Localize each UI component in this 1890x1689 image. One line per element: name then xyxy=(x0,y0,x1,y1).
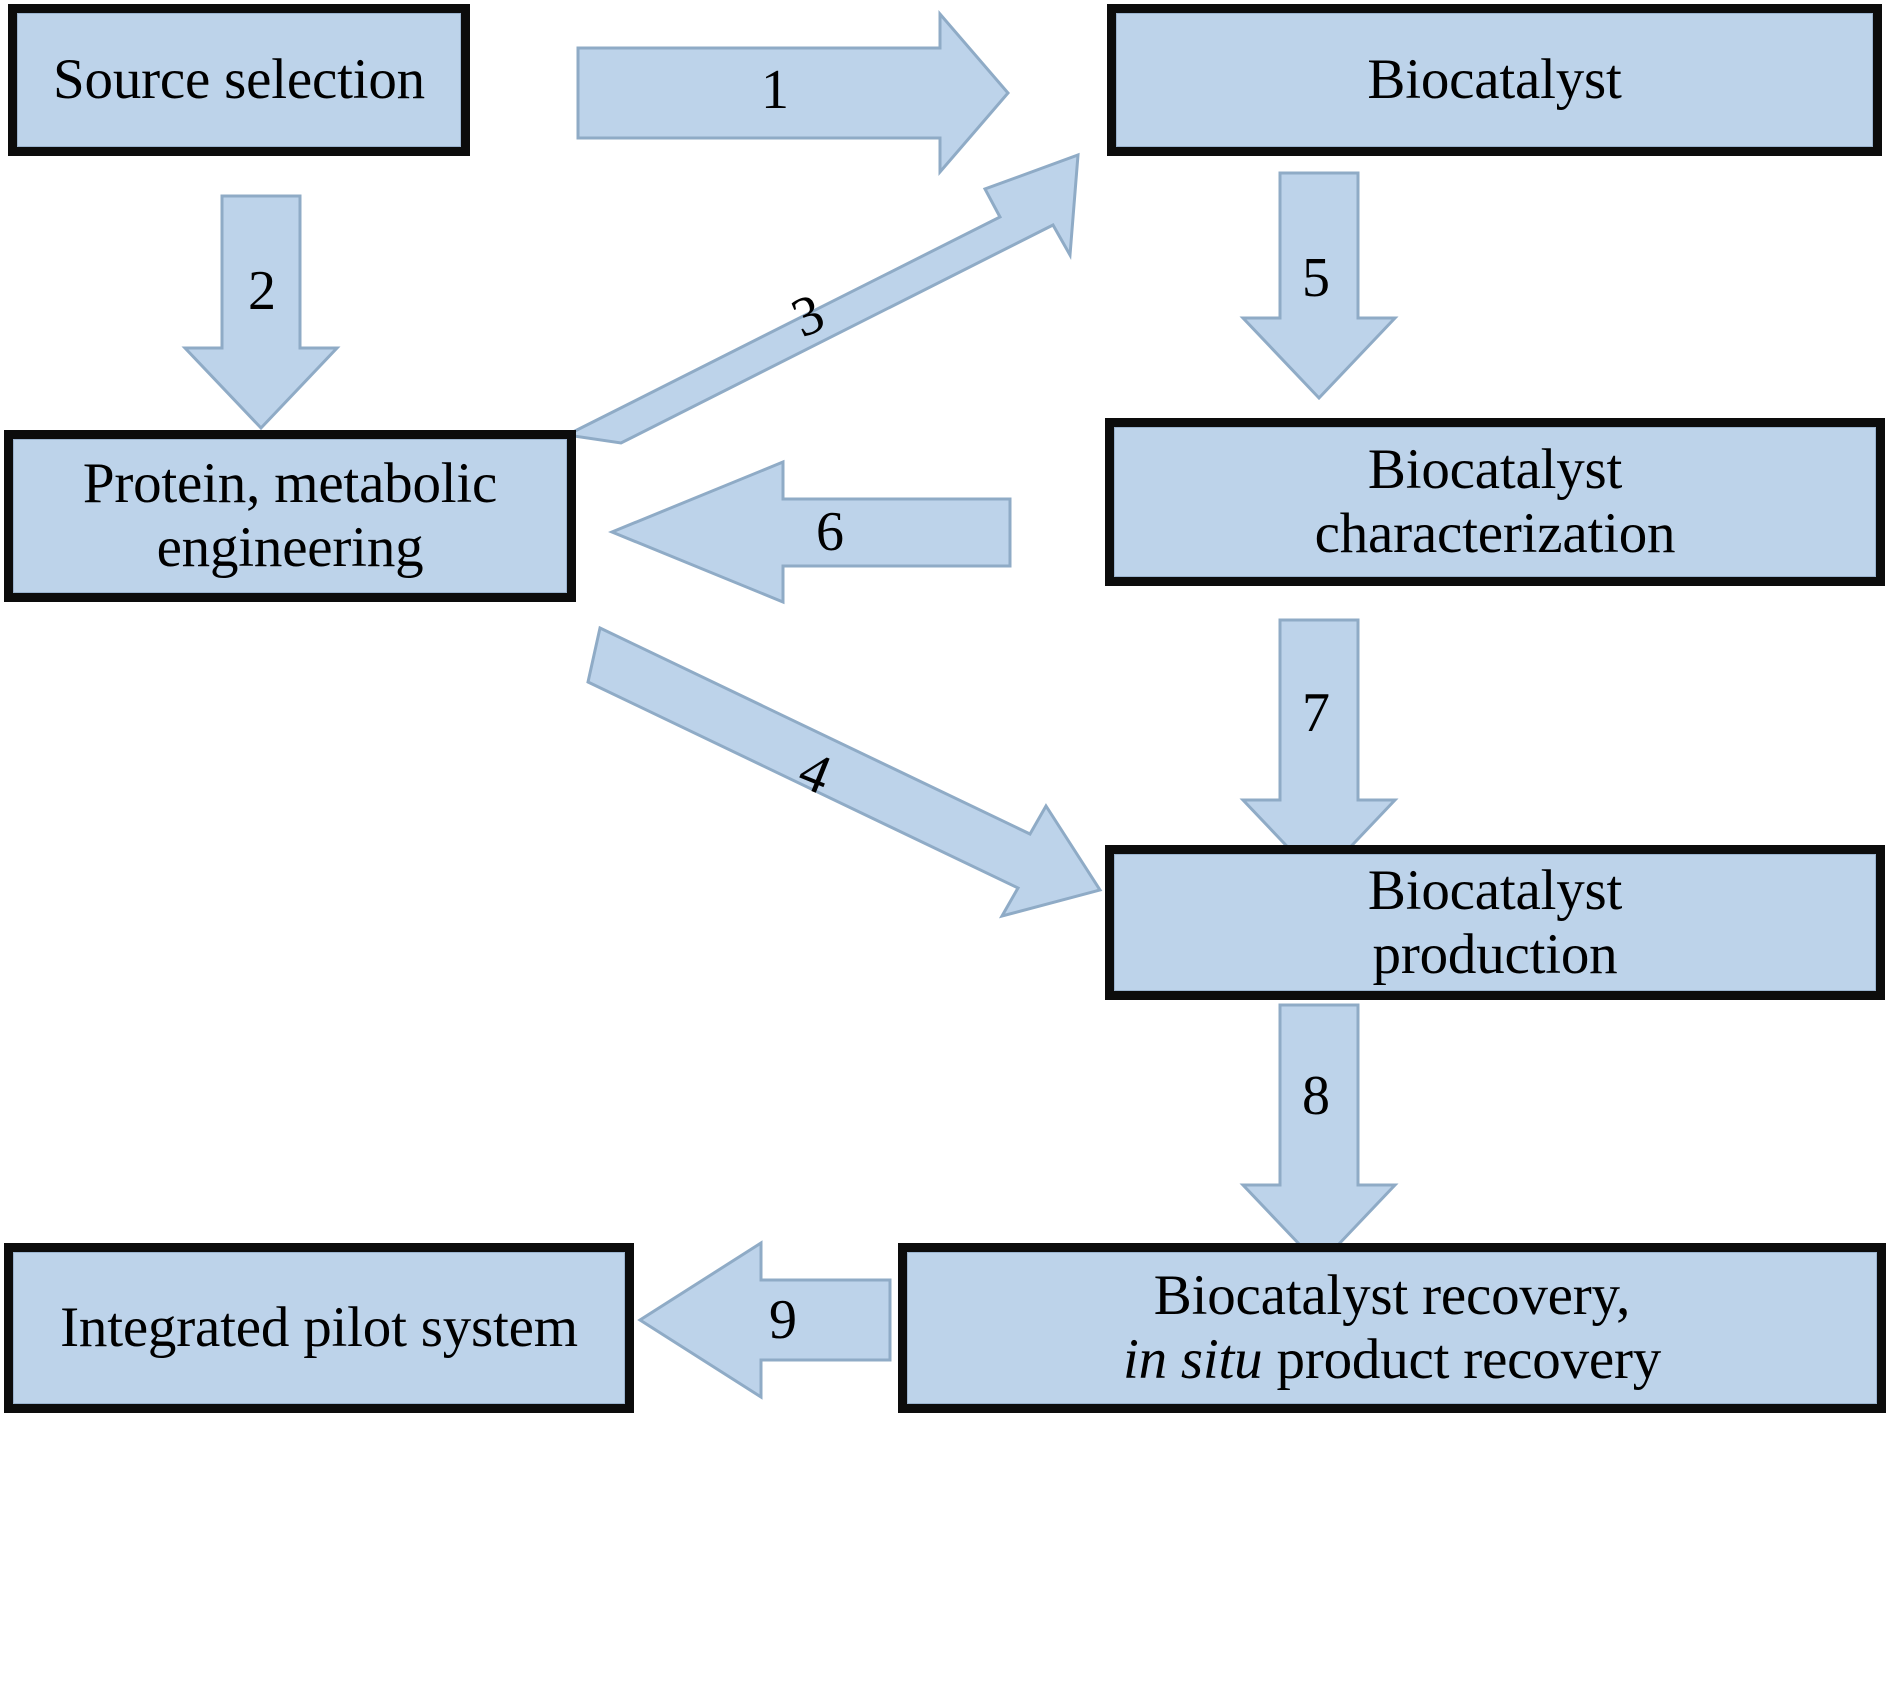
node-label-line-2-rest: product recovery xyxy=(1262,1328,1661,1391)
flowchart-canvas: Source selection Biocatalyst Protein, me… xyxy=(0,0,1890,1689)
node-biocatalyst[interactable]: Biocatalyst xyxy=(1107,4,1882,156)
node-label: Source selection xyxy=(27,48,451,112)
node-label: Biocatalyst recovery, in situ product re… xyxy=(917,1264,1867,1392)
node-label-line-2: production xyxy=(1373,923,1618,986)
arrow-3-number: 3 xyxy=(769,279,846,354)
arrow-5-number: 5 xyxy=(1286,250,1346,306)
arrow-1-number: 1 xyxy=(745,62,805,118)
arrow-7-number: 7 xyxy=(1286,685,1346,741)
node-biocatalyst-characterization[interactable]: Biocatalyst characterization xyxy=(1105,418,1885,586)
node-label-line-2-italic: in situ xyxy=(1123,1328,1263,1391)
node-label: Protein, metabolic engineering xyxy=(23,452,557,580)
arrow-6-number: 6 xyxy=(800,504,860,560)
arrow-2-number: 2 xyxy=(232,263,292,319)
node-integrated-pilot-system[interactable]: Integrated pilot system xyxy=(4,1243,634,1413)
node-label: Biocatalyst characterization xyxy=(1124,438,1866,566)
node-label: Integrated pilot system xyxy=(23,1296,615,1360)
node-label-line-1: Biocatalyst recovery, xyxy=(1154,1264,1630,1327)
node-label: Biocatalyst xyxy=(1126,48,1863,112)
arrow-4-number: 4 xyxy=(777,736,854,810)
node-label-line-2: characterization xyxy=(1315,502,1676,565)
node-protein-metabolic-engineering[interactable]: Protein, metabolic engineering xyxy=(4,430,576,602)
node-label-line-1: Protein, metabolic xyxy=(83,452,497,515)
node-source-selection[interactable]: Source selection xyxy=(8,4,470,156)
node-label-line-1: Biocatalyst xyxy=(1368,438,1622,501)
arrow-7-shape xyxy=(1243,620,1395,880)
arrow-8-number: 8 xyxy=(1286,1068,1346,1124)
node-label-line-2: engineering xyxy=(157,516,424,579)
node-label-line-1: Biocatalyst xyxy=(1368,859,1622,922)
node-biocatalyst-production[interactable]: Biocatalyst production xyxy=(1105,845,1885,1000)
arrow-9-number: 9 xyxy=(753,1292,813,1348)
node-label: Biocatalyst production xyxy=(1124,859,1866,987)
arrow-8-shape xyxy=(1243,1005,1395,1265)
node-biocatalyst-recovery[interactable]: Biocatalyst recovery, in situ product re… xyxy=(898,1243,1886,1413)
